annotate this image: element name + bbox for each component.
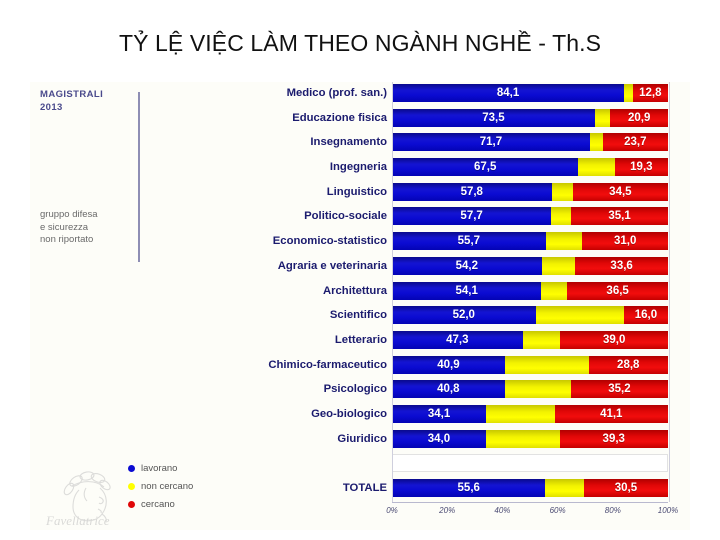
bar-value-label: 28,8 (617, 359, 639, 371)
bar-segment-non-cercano (551, 207, 571, 225)
bar-row-label: Educazione fisica (177, 109, 387, 127)
left-annotation-panel: MAGISTRALI2013 gruppo difesae sicurezzan… (40, 86, 150, 486)
bar-segment-non-cercano (595, 109, 610, 127)
bar-track: 57,735,1 (392, 207, 668, 225)
bar-segment-cercano: 12,8 (633, 84, 668, 102)
bar-segment-non-cercano (505, 380, 571, 398)
panel-heading: MAGISTRALI2013 (40, 88, 103, 114)
bar-segment-lavorano: 57,8 (392, 183, 552, 201)
bar-value-label: 71,7 (480, 136, 502, 148)
bar-track: 67,519,3 (392, 158, 668, 176)
bar-row: Medico (prof. san.)84,112,8 (225, 82, 670, 107)
bar-value-label: 47,3 (446, 334, 468, 346)
bar-segment-lavorano: 71,7 (392, 133, 590, 151)
bar-row-label: Letterario (177, 331, 387, 349)
bar-track: 40,928,8 (392, 356, 668, 374)
bar-row: TOTALE55,630,5 (225, 477, 670, 502)
axis-tick-label: 20% (439, 506, 455, 515)
bar-row: Letterario47,339,0 (225, 329, 670, 354)
axis-tick-label: 100% (658, 506, 678, 515)
bar-segment-cercano: 35,2 (571, 380, 668, 398)
bar-segment-lavorano: 47,3 (392, 331, 523, 349)
bar-segment-non-cercano (624, 84, 633, 102)
bar-row: Insegnamento71,723,7 (225, 131, 670, 156)
bar-row: Ingegneria67,519,3 (225, 156, 670, 181)
bar-value-label: 35,2 (608, 383, 630, 395)
bar-segment-lavorano: 34,1 (392, 405, 486, 423)
bar-segment-cercano: 19,3 (615, 158, 668, 176)
bar-segment-non-cercano (486, 430, 560, 448)
axis-tick-label: 80% (605, 506, 621, 515)
bar-track: 55,630,5 (392, 479, 668, 497)
slide-root: TỶ LỆ VIỆC LÀM THEO NGÀNH NGHỀ - Th.S MA… (0, 0, 720, 540)
bar-row-label: Architettura (177, 282, 387, 300)
bar-value-label: 36,5 (606, 285, 628, 297)
bar-segment-lavorano: 34,0 (392, 430, 486, 448)
bar-value-label: 23,7 (624, 136, 646, 148)
bar-track: 73,520,9 (392, 109, 668, 127)
bar-segment-lavorano: 54,2 (392, 257, 542, 275)
bar-row: Giuridico34,039,3 (225, 428, 670, 453)
bar-segment-non-cercano (552, 183, 573, 201)
bar-row: Psicologico40,835,2 (225, 378, 670, 403)
bar-value-label: 57,7 (460, 210, 482, 222)
bar-row-label: Psicologico (177, 380, 387, 398)
bar-segment-cercano: 36,5 (567, 282, 668, 300)
bar-track: 54,136,5 (392, 282, 668, 300)
bar-track: 40,835,2 (392, 380, 668, 398)
bar-value-label: 67,5 (474, 161, 496, 173)
bar-segment-lavorano: 40,8 (392, 380, 505, 398)
bar-segment-non-cercano (578, 158, 614, 176)
axis-tick-label: 40% (494, 506, 510, 515)
bar-segment-lavorano: 84,1 (392, 84, 624, 102)
bar-value-label: 54,2 (456, 260, 478, 272)
bar-row-label: Medico (prof. san.) (177, 84, 387, 102)
bar-value-label: 39,0 (603, 334, 625, 346)
bar-value-label: 55,7 (458, 235, 480, 247)
bar-segment-lavorano: 54,1 (392, 282, 541, 300)
bar-value-label: 54,1 (455, 285, 477, 297)
bar-track: 57,834,5 (392, 183, 668, 201)
bar-segment-cercano: 33,6 (575, 257, 668, 275)
bar-row: Agraria e veterinaria54,233,6 (225, 255, 670, 280)
bar-value-label: 34,1 (428, 408, 450, 420)
bar-value-label: 55,6 (458, 482, 480, 494)
bar-row: Geo-biologico34,141,1 (225, 403, 670, 428)
x-axis: 0%20%40%60%80%100% (392, 504, 668, 522)
bar-segment-non-cercano (542, 257, 576, 275)
axis-line (392, 502, 668, 503)
bar-segment-cercano: 34,5 (573, 183, 668, 201)
bar-segment-cercano: 20,9 (610, 109, 668, 127)
bar-row-label: Geo-biologico (177, 405, 387, 423)
chart-area: MAGISTRALI2013 gruppo difesae sicurezzan… (30, 82, 690, 530)
bar-row: Educazione fisica73,520,9 (225, 107, 670, 132)
bar-value-label: 41,1 (600, 408, 622, 420)
bar-segment-cercano: 41,1 (555, 405, 668, 423)
page-title: TỶ LỆ VIỆC LÀM THEO NGÀNH NGHỀ - Th.S (0, 30, 720, 57)
bar-row: Politico-sociale57,735,1 (225, 205, 670, 230)
bar-value-label: 84,1 (497, 87, 519, 99)
bar-value-label: 12,8 (639, 87, 661, 99)
panel-note: gruppo difesae sicurezzanon riportato (40, 209, 98, 247)
bar-segment-cercano: 16,0 (624, 306, 668, 324)
bar-segment-cercano: 39,0 (560, 331, 668, 349)
bar-segment-lavorano: 55,7 (392, 232, 546, 250)
bar-track (392, 454, 668, 472)
bar-segment-non-cercano (486, 405, 554, 423)
legend-item-label: lavorano (141, 463, 177, 474)
bar-value-label: 20,9 (628, 112, 650, 124)
panel-divider (138, 92, 140, 262)
legend-item[interactable]: non cercano (128, 478, 248, 494)
bar-track: 54,233,6 (392, 257, 668, 275)
bar-row-label: Linguistico (177, 183, 387, 201)
legend-item[interactable]: cercano (128, 496, 248, 512)
stacked-bar-plot: Medico (prof. san.)84,112,8Educazione fi… (225, 82, 670, 502)
chart-legend: lavoranonon cercanocercano (128, 460, 248, 514)
bar-value-label: 31,0 (614, 235, 636, 247)
bar-track: 71,723,7 (392, 133, 668, 151)
bar-value-label: 16,0 (635, 309, 657, 321)
bar-row-label: Economico-statistico (177, 232, 387, 250)
bar-track: 52,016,0 (392, 306, 668, 324)
bar-segment-lavorano: 55,6 (392, 479, 545, 497)
bar-segment-non-cercano (541, 282, 567, 300)
bar-value-label: 52,0 (453, 309, 475, 321)
bar-segment-non-cercano (505, 356, 589, 374)
bar-row: Chimico-farmaceutico40,928,8 (225, 354, 670, 379)
bar-segment-non-cercano (536, 306, 624, 324)
bar-segment-lavorano: 40,9 (392, 356, 505, 374)
bar-segment-cercano: 35,1 (571, 207, 668, 225)
bar-segment-lavorano: 57,7 (392, 207, 551, 225)
bar-value-label: 39,3 (603, 433, 625, 445)
bar-value-label: 33,6 (610, 260, 632, 272)
bar-segment-lavorano: 67,5 (392, 158, 578, 176)
axis-tick-label: 0% (386, 506, 398, 515)
bar-row-label: Scientifico (177, 306, 387, 324)
bar-rows: Medico (prof. san.)84,112,8Educazione fi… (225, 82, 670, 502)
legend-item-label: cercano (141, 499, 175, 510)
watermark-text: Favellatrice (45, 513, 110, 528)
bar-value-label: 30,5 (615, 482, 637, 494)
bar-row-label: Chimico-farmaceutico (177, 356, 387, 374)
bar-row-label: Ingegneria (177, 158, 387, 176)
bar-segment-non-cercano (546, 232, 583, 250)
bar-row-label: Agraria e veterinaria (177, 257, 387, 275)
bar-value-label: 73,5 (482, 112, 504, 124)
bar-track: 55,731,0 (392, 232, 668, 250)
legend-item-label: non cercano (141, 481, 193, 492)
axis-tick-label: 60% (550, 506, 566, 515)
bar-value-label: 57,8 (461, 186, 483, 198)
bar-value-label: 35,1 (608, 210, 630, 222)
bar-row: Architettura54,136,5 (225, 280, 670, 305)
bar-track: 47,339,0 (392, 331, 668, 349)
bar-row-label: Politico-sociale (177, 207, 387, 225)
bar-segment-cercano: 23,7 (603, 133, 668, 151)
bar-row-spacer (225, 452, 670, 477)
bar-value-label: 34,0 (428, 433, 450, 445)
bar-segment-cercano: 30,5 (584, 479, 668, 497)
bar-row-label: Giuridico (177, 430, 387, 448)
bar-value-label: 34,5 (609, 186, 631, 198)
bar-segment-cercano: 39,3 (560, 430, 668, 448)
bar-segment-cercano: 31,0 (582, 232, 668, 250)
bar-value-label: 40,9 (437, 359, 459, 371)
bar-track: 34,039,3 (392, 430, 668, 448)
bar-row-label: Insegnamento (177, 133, 387, 151)
bar-segment-non-cercano (523, 331, 561, 349)
bar-row: Economico-statistico55,731,0 (225, 230, 670, 255)
bar-track: 84,112,8 (392, 84, 668, 102)
legend-item[interactable]: lavorano (128, 460, 248, 476)
bar-value-label: 19,3 (630, 161, 652, 173)
bar-row: Linguistico57,834,5 (225, 181, 670, 206)
bar-row: Scientifico52,016,0 (225, 304, 670, 329)
bar-segment-lavorano: 73,5 (392, 109, 595, 127)
bar-track: 34,141,1 (392, 405, 668, 423)
bar-segment-non-cercano (545, 479, 583, 497)
bar-value-label: 40,8 (437, 383, 459, 395)
bar-segment-cercano: 28,8 (589, 356, 668, 374)
bar-segment-non-cercano (590, 133, 603, 151)
watermark-logo: Favellatrice (42, 464, 138, 528)
bar-segment-lavorano: 52,0 (392, 306, 536, 324)
